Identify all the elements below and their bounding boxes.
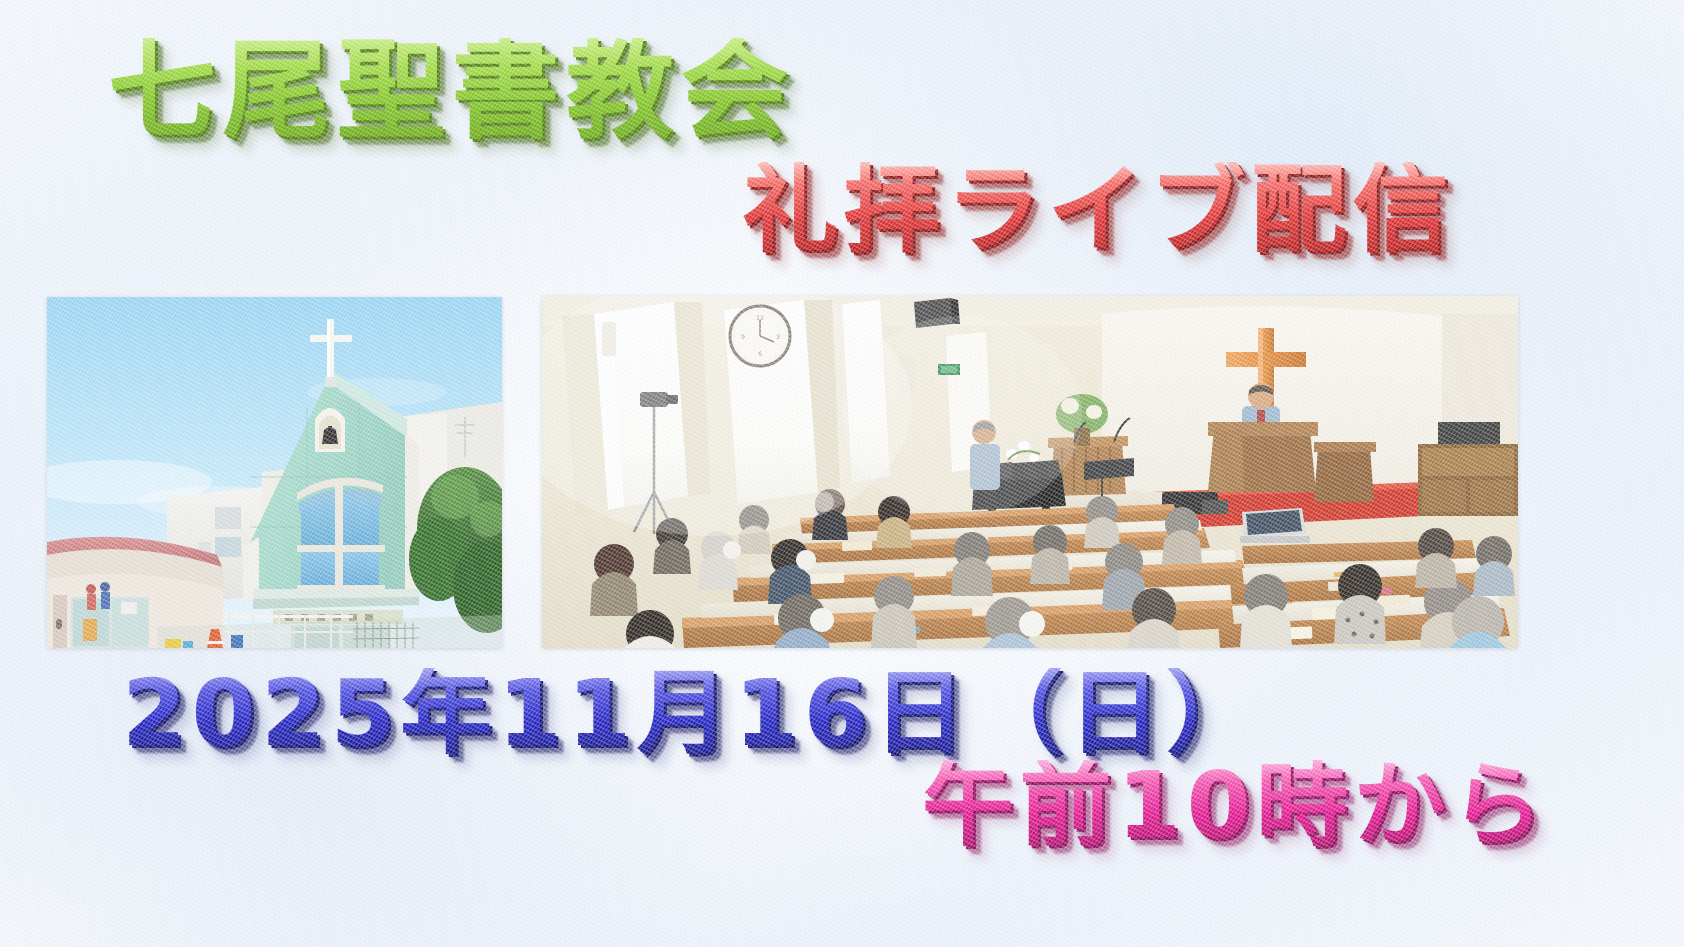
sanctuary-interior-illustration: 123 69 xyxy=(542,296,1518,648)
service-time-text: 午前10時から xyxy=(922,760,1549,852)
church-name-heading: 七尾聖書教会 xyxy=(108,38,795,146)
sanctuary-interior-photo: 123 69 xyxy=(542,296,1518,648)
church-exterior-illustration xyxy=(47,297,502,648)
service-date-text: 2025年11月16日（日） xyxy=(122,668,1263,760)
live-stream-announcement-poster: 123 69 xyxy=(0,0,1684,947)
church-exterior-photo xyxy=(47,297,502,648)
broadcast-title-heading: 礼拝ライブ配信 xyxy=(742,162,1454,258)
